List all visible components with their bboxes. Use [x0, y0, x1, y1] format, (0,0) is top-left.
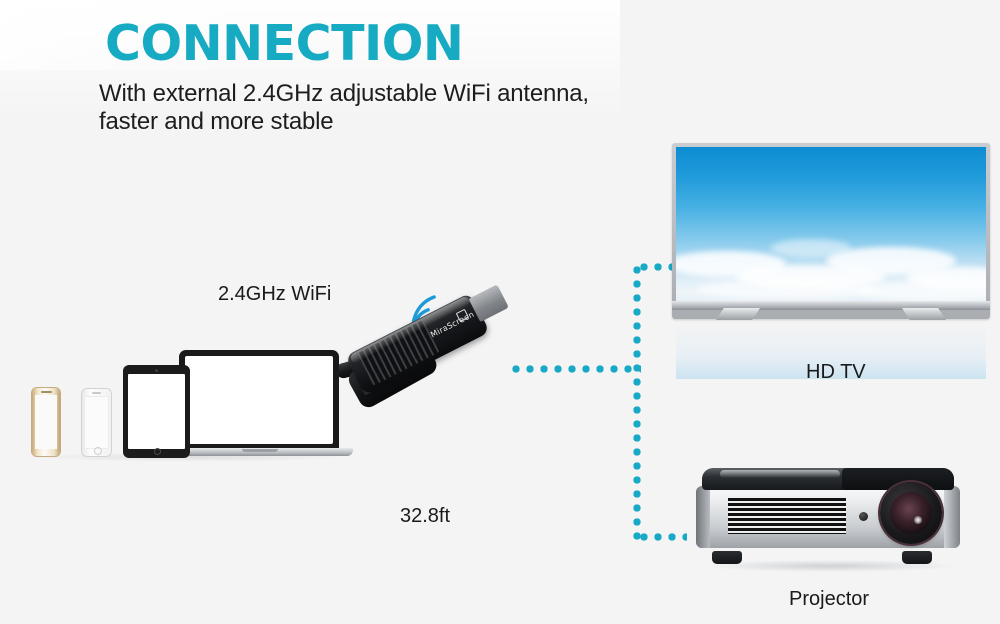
hdtv-illustration — [672, 143, 990, 319]
connection-line-to-projector — [637, 533, 687, 541]
distance-label: 32.8ft — [400, 505, 450, 528]
smartphone-gold-screen — [35, 395, 57, 449]
smartphone-white-illustration — [82, 389, 111, 456]
projector-ir-sensor — [859, 512, 868, 521]
projector-lens-highlight — [914, 516, 922, 524]
hdtv-screen — [676, 147, 986, 305]
smartphone-gold-speaker — [41, 391, 52, 393]
page-subtitle: With external 2.4GHz adjustable WiFi ant… — [99, 80, 589, 137]
source-devices-cluster — [24, 340, 344, 465]
laptop-trackpad-notch — [242, 449, 278, 452]
projector-lens-glass — [890, 492, 932, 534]
projector-label: Projector — [789, 588, 869, 611]
smartphone-white-screen — [84, 396, 109, 449]
projector-lens — [880, 482, 942, 544]
projector-top-highlight — [720, 470, 840, 478]
smartphone-white-home-button — [94, 447, 102, 455]
infographic-canvas: CONNECTION With external 2.4GHz adjustab… — [0, 0, 1000, 624]
smartphone-gold-illustration — [32, 388, 60, 456]
hdtv-label: HD TV — [806, 361, 866, 384]
projector-right-panel — [944, 486, 960, 548]
tablet-screen — [128, 374, 185, 449]
hdtv-bottom-bezel — [672, 301, 990, 310]
laptop-screen — [185, 356, 333, 444]
projector-foot-left — [712, 551, 742, 564]
tablet-home-button — [154, 448, 161, 455]
laptop-illustration — [179, 350, 339, 450]
projector-left-panel — [696, 486, 710, 548]
mirascreen-dongle-illustration: ▮▯ MiraScreen — [345, 300, 535, 450]
wifi-label: 2.4GHz WiFi — [218, 283, 331, 306]
tablet-camera-icon — [155, 369, 158, 372]
projector-foot-right — [902, 551, 932, 564]
projector-vent-grille — [728, 498, 846, 534]
smartphone-white-speaker — [92, 392, 101, 394]
tablet-illustration — [123, 365, 190, 458]
page-title: CONNECTION — [105, 18, 463, 69]
connection-line-vertical-trunk — [633, 263, 641, 541]
projector-illustration — [696, 468, 960, 564]
